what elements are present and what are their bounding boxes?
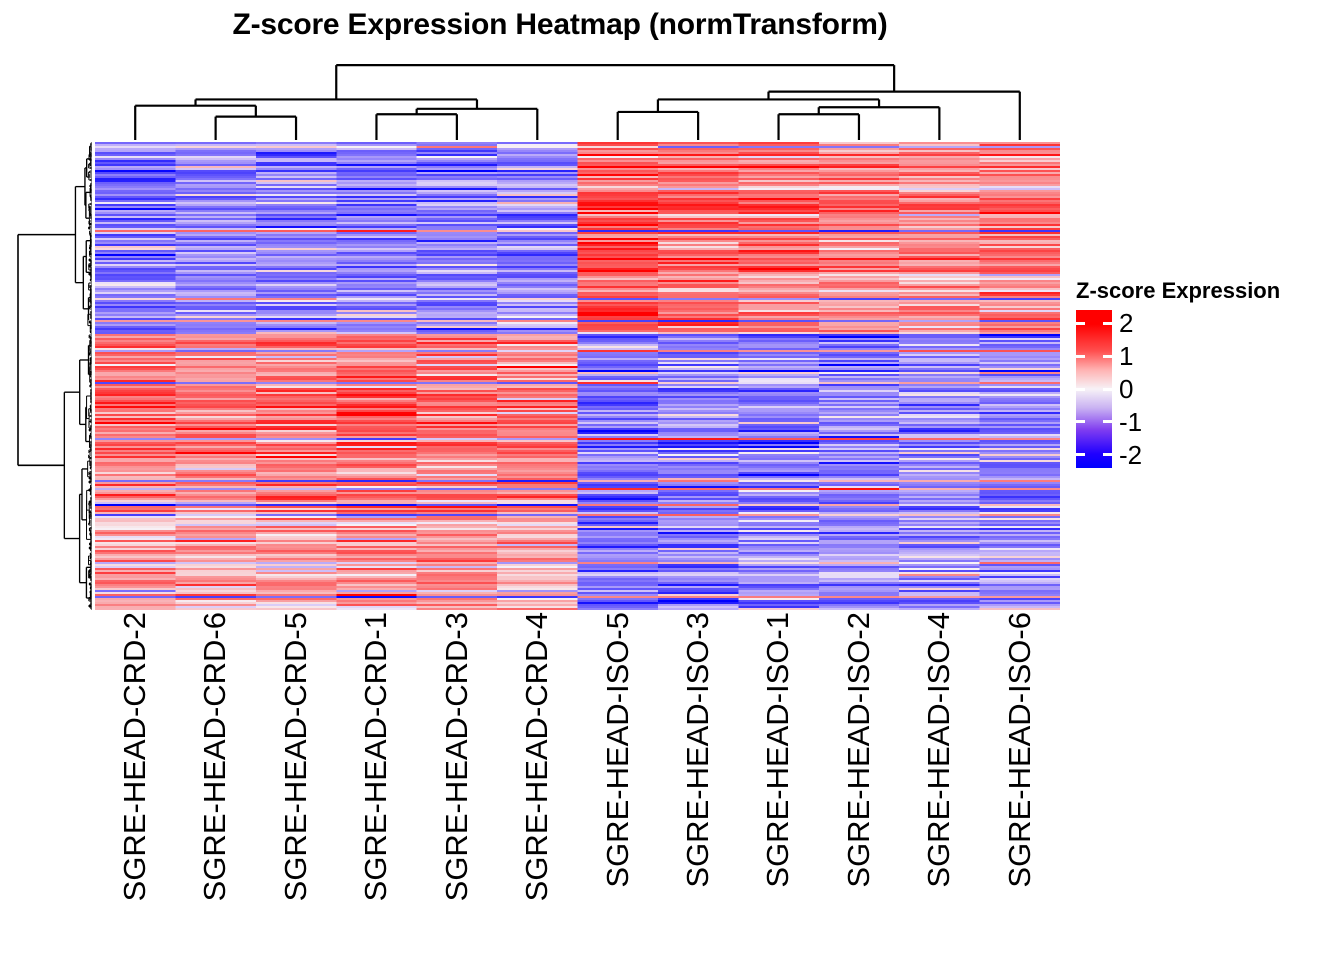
page-title: Z-score Expression Heatmap (normTransfor… [0, 8, 1120, 42]
column-label-axis: SGRE-HEAD-CRD-2SGRE-HEAD-CRD-6SGRE-HEAD-… [95, 612, 1060, 942]
column-label-7: SGRE-HEAD-ISO-5 [578, 612, 658, 942]
legend-tick-mark-4 [1103, 420, 1112, 423]
column-label-2: SGRE-HEAD-CRD-6 [175, 612, 255, 942]
column-label-10: SGRE-HEAD-ISO-2 [819, 612, 899, 942]
column-label-5: SGRE-HEAD-CRD-3 [417, 612, 497, 942]
column-label-4: SGRE-HEAD-CRD-1 [336, 612, 416, 942]
legend-title: Z-score Expression [1076, 278, 1336, 304]
column-label-9: SGRE-HEAD-ISO-1 [738, 612, 818, 942]
legend-tick-mark-5 [1103, 453, 1112, 456]
legend: Z-score Expression 210-1-2 [1074, 278, 1336, 478]
column-label-8: SGRE-HEAD-ISO-3 [658, 612, 738, 942]
column-label-3: SGRE-HEAD-CRD-5 [256, 612, 336, 942]
column-label-11: SGRE-HEAD-ISO-4 [899, 612, 979, 942]
legend-colorbar-body: 210-1-2 [1074, 310, 1336, 478]
column-label-12: SGRE-HEAD-ISO-6 [980, 612, 1060, 942]
legend-tick-mark-1 [1103, 322, 1112, 325]
column-dendrogram [95, 60, 1060, 140]
column-label-6: SGRE-HEAD-CRD-4 [497, 612, 577, 942]
legend-tick-mark-2 [1103, 355, 1112, 358]
legend-tick-mark-2 [1076, 355, 1085, 358]
legend-tick-mark-1 [1076, 322, 1085, 325]
legend-tick-label-2: 1 [1119, 343, 1133, 369]
legend-tick-mark-5 [1076, 453, 1085, 456]
legend-tick-label-3: 0 [1119, 376, 1133, 402]
row-dendrogram [16, 142, 92, 610]
legend-tick-label-4: -1 [1119, 409, 1142, 435]
legend-tick-mark-3 [1076, 388, 1085, 391]
heatmap-grid[interactable] [95, 142, 1060, 610]
column-label-1: SGRE-HEAD-CRD-2 [95, 612, 175, 942]
legend-tick-label-1: 2 [1119, 310, 1133, 336]
heatmap-cells[interactable] [95, 142, 1060, 610]
legend-tick-label-5: -2 [1119, 442, 1142, 468]
legend-tick-mark-4 [1076, 420, 1085, 423]
legend-tick-mark-3 [1103, 388, 1112, 391]
